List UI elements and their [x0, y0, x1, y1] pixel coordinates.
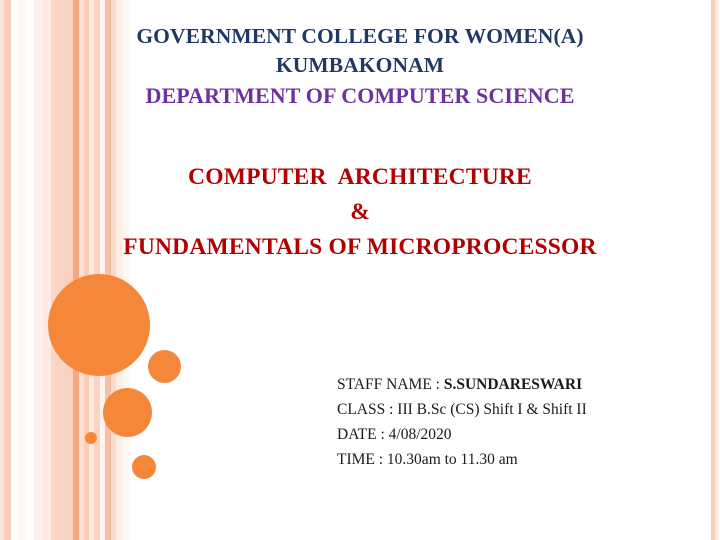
staff-name-value: S.SUNDARESWARI: [444, 376, 582, 393]
subject-conjunction: &: [40, 195, 680, 230]
subject-title: COMPUTER ARCHITECTURE & FUNDAMENTALS OF …: [40, 160, 680, 265]
subject-line-1: COMPUTER ARCHITECTURE: [40, 160, 680, 195]
staff-name-line: STAFF NAME : S.SUNDARESWARI: [337, 372, 687, 397]
college-name-line-2: KUMBAKONAM: [40, 51, 680, 80]
date-line: DATE : 4/08/2020: [337, 422, 687, 447]
presentation-slide: GOVERNMENT COLLEGE FOR WOMEN(A) KUMBAKON…: [0, 0, 720, 540]
class-line: CLASS : III B.Sc (CS) Shift I & Shift II: [337, 397, 687, 422]
staff-name-label: STAFF NAME :: [337, 376, 444, 393]
college-name-line-1: GOVERNMENT COLLEGE FOR WOMEN(A): [40, 22, 680, 51]
department-name: DEPARTMENT OF COMPUTER SCIENCE: [40, 80, 680, 112]
slide-text-layer: GOVERNMENT COLLEGE FOR WOMEN(A) KUMBAKON…: [0, 0, 720, 540]
institution-heading: GOVERNMENT COLLEGE FOR WOMEN(A) KUMBAKON…: [40, 22, 680, 112]
time-line: TIME : 10.30am to 11.30 am: [337, 447, 687, 472]
staff-details-block: STAFF NAME : S.SUNDARESWARI CLASS : III …: [337, 372, 687, 472]
subject-line-2: FUNDAMENTALS OF MICROPROCESSOR: [40, 230, 680, 265]
